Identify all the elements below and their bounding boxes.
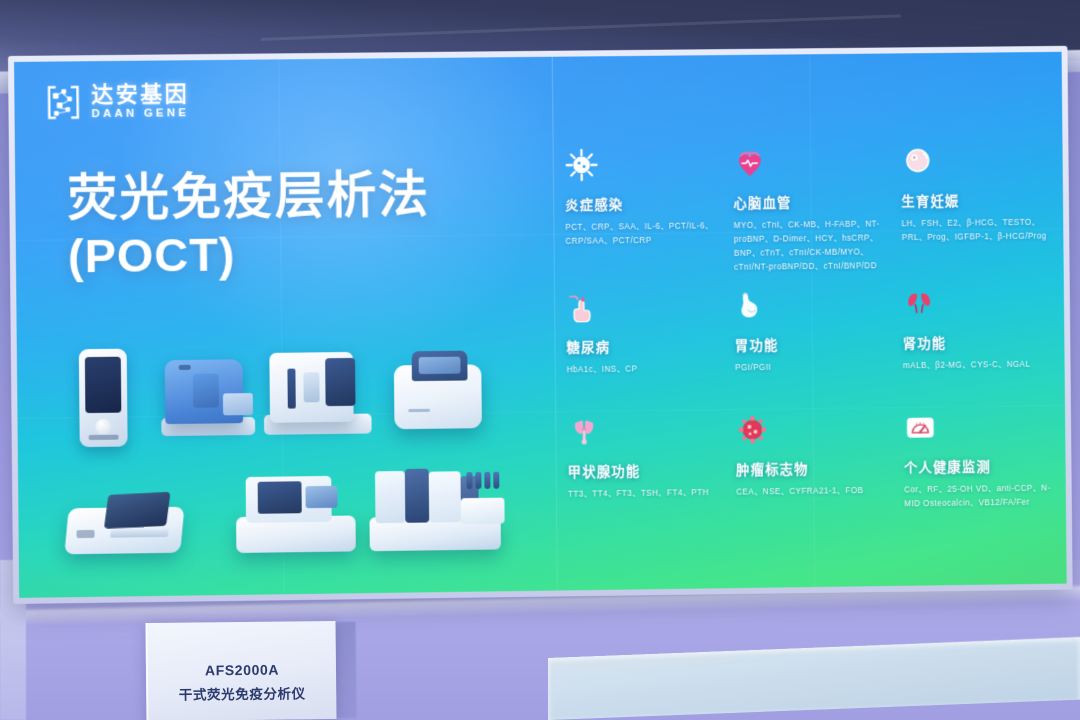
ceiling-seam bbox=[261, 14, 901, 40]
placard-model: AFS2000A bbox=[148, 661, 336, 679]
category-title: 炎症感染 bbox=[565, 192, 732, 214]
category-title: 肾功能 bbox=[903, 330, 1067, 352]
large-white-analyzer bbox=[269, 352, 381, 445]
title-line-2: (POCT) bbox=[68, 224, 431, 283]
daan-gene-bracket-logo-icon bbox=[44, 83, 82, 121]
stomach-icon bbox=[734, 288, 768, 322]
category-gastric-function: 胃功能 PGI/PGII bbox=[734, 287, 901, 413]
brand-logo: 达安基因 DAAN GENE bbox=[44, 82, 189, 121]
category-kidney-function: 肾功能 mALB、β2-MG、CYS-C、NGAL bbox=[902, 285, 1066, 411]
category-items: MYO、cTnI、CK-MB、H-FABP、NT-proBNP、D-Dimer、… bbox=[734, 217, 885, 275]
product-placard: AFS2000A 干式荧光免疫分析仪 bbox=[145, 621, 336, 720]
pregnancy-icon bbox=[901, 144, 935, 178]
tumor-cell-icon bbox=[735, 413, 769, 447]
title-line-1: 荧光免疫层析法 bbox=[67, 166, 430, 229]
virus-icon bbox=[565, 148, 599, 182]
category-items: HbA1c、INS、CP bbox=[567, 362, 718, 378]
exhibition-booth-scene: 达安基因 DAAN GENE 荧光免疫层析法 (POCT) bbox=[0, 0, 1080, 720]
product-image-gallery bbox=[16, 306, 547, 598]
category-diabetes: 糖尿病 HbA1c、INS、CP bbox=[566, 289, 734, 415]
category-items: mALB、β2-MG、CYS-C、NGAL bbox=[903, 357, 1061, 373]
heart-icon bbox=[733, 146, 767, 180]
brand-name-en: DAAN GENE bbox=[91, 108, 189, 120]
handheld-fluorescence-reader bbox=[79, 349, 128, 448]
kidney-icon bbox=[902, 286, 936, 320]
automated-sample-handling-system bbox=[369, 468, 505, 561]
compact-cube-analyzer bbox=[394, 350, 490, 443]
brand-logo-text: 达安基因 DAAN GENE bbox=[91, 83, 189, 120]
led-screen: 达安基因 DAAN GENE 荧光免疫层析法 (POCT) bbox=[14, 52, 1067, 598]
category-personal-health-monitoring: 个人健康监测 Cor、RF、25-OH VD、anti-CCP、N-MID Os… bbox=[903, 409, 1066, 512]
category-fertility-pregnancy: 生育妊娠 LH、FSH、E2、β-HCG、TESTO、PRL、Prog、IGFB… bbox=[901, 143, 1067, 287]
category-items: TT3、TT4、FT3、TSH、FT4、PTH bbox=[568, 486, 719, 502]
page-title: 荧光免疫层析法 (POCT) bbox=[67, 166, 431, 284]
health-gauge-icon bbox=[903, 411, 937, 445]
category-thyroid-function: 甲状腺功能 TT3、TT4、FT3、TSH、FT4、PTH bbox=[567, 413, 734, 516]
category-items: CEA、NSE、CYFRA21-1、FOB bbox=[736, 484, 886, 500]
category-title: 糖尿病 bbox=[566, 335, 733, 357]
category-title: 肿瘤标志物 bbox=[736, 457, 902, 479]
category-items: PCT、CRP、SAA、IL-6、PCT/IL-6、CRP/SAA、PCT/CR… bbox=[565, 219, 716, 249]
thyroid-icon bbox=[567, 415, 601, 449]
fingerstick-icon bbox=[566, 290, 600, 324]
modular-lab-analyzer bbox=[236, 476, 360, 563]
category-title: 甲状腺功能 bbox=[568, 459, 735, 481]
benchtop-blue-analyzer bbox=[165, 359, 256, 442]
placard-description: 干式荧光免疫分析仪 bbox=[148, 682, 336, 704]
category-items: PGI/PGII bbox=[735, 360, 885, 376]
category-title: 胃功能 bbox=[735, 333, 901, 355]
category-title: 生育妊娠 bbox=[901, 189, 1066, 211]
desktop-tilted-screen-analyzer bbox=[66, 485, 189, 565]
category-items: LH、FSH、E2、β-HCG、TESTO、PRL、Prog、IGFBP-1、β… bbox=[902, 216, 1060, 246]
led-screen-frame: 达安基因 DAAN GENE 荧光免疫层析法 (POCT) bbox=[8, 46, 1073, 604]
content-panel-divider bbox=[552, 57, 558, 591]
category-title: 个人健康监测 bbox=[904, 454, 1067, 476]
test-category-grid: 炎症感染 PCT、CRP、SAA、IL-6、PCT/IL-6、CRP/SAA、P… bbox=[565, 143, 1067, 516]
category-cardiovascular: 心脑血管 MYO、cTnI、CK-MB、H-FABP、NT-proBNP、D-D… bbox=[733, 145, 900, 289]
category-items: Cor、RF、25-OH VD、anti-CCP、N-MID Osteocalc… bbox=[904, 481, 1062, 511]
category-title: 心脑血管 bbox=[733, 190, 899, 212]
brand-name-cn: 达安基因 bbox=[91, 83, 189, 106]
category-inflammation-infection: 炎症感染 PCT、CRP、SAA、IL-6、PCT/IL-6、CRP/SAA、P… bbox=[565, 147, 733, 291]
category-tumor-markers: 肿瘤标志物 CEA、NSE、CYFRA21-1、FOB bbox=[735, 411, 902, 514]
